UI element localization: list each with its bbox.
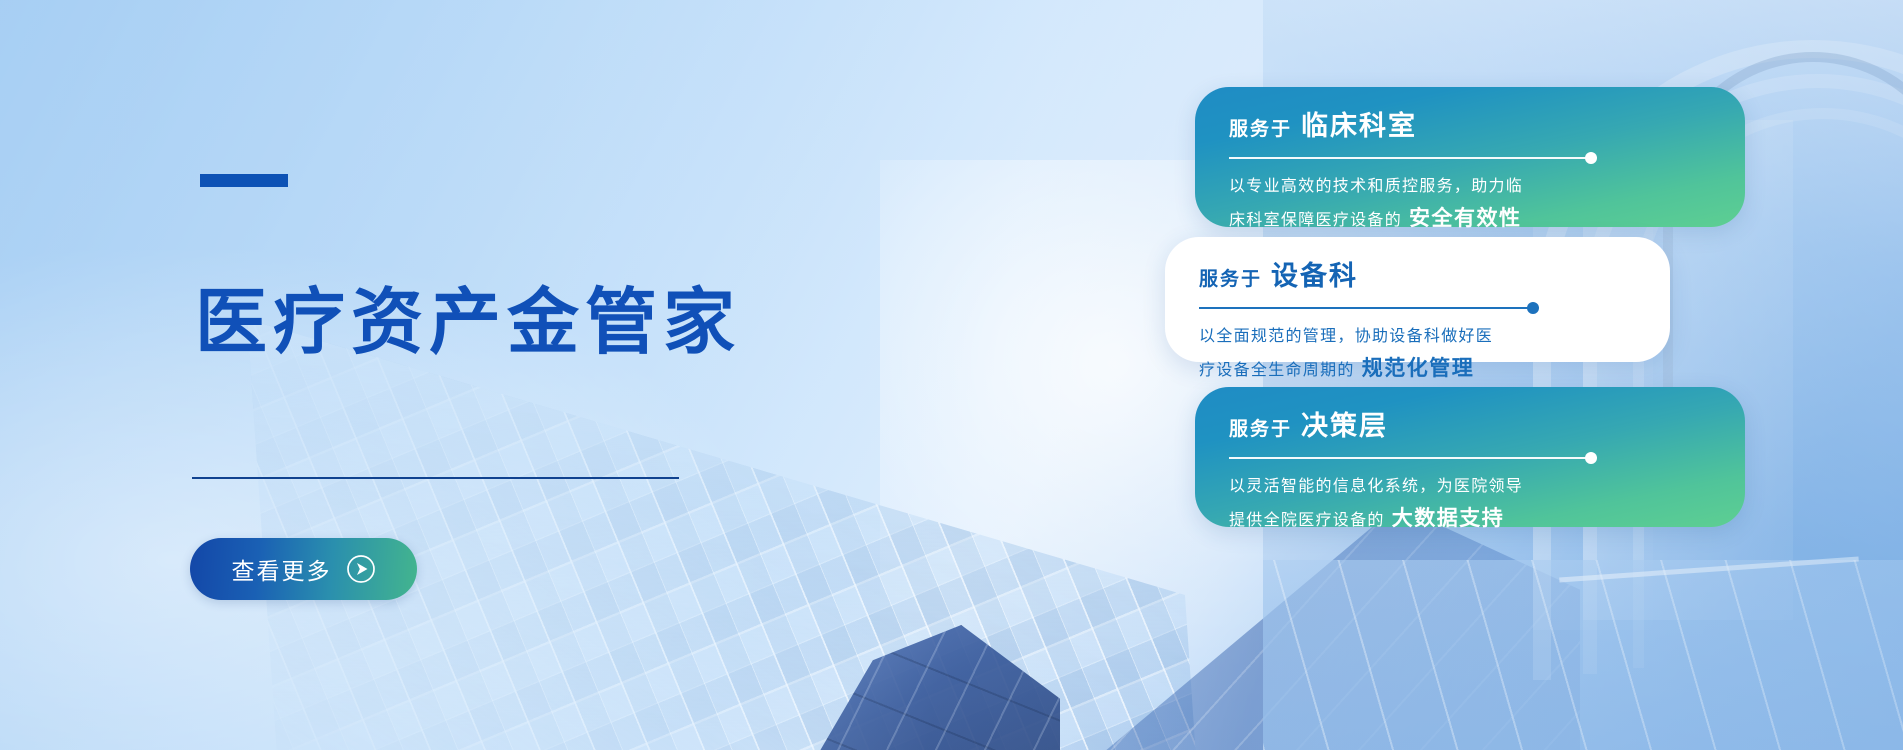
card-header-target: 临床科室 — [1301, 113, 1417, 140]
card-body-line-2: 提供全院医疗设备的大数据支持 — [1229, 501, 1711, 538]
card-header: 服务于 决策层 — [1229, 413, 1711, 440]
card-body-line-2: 疗设备全生命周期的规范化管理 — [1199, 351, 1636, 388]
progress-dot — [1585, 152, 1597, 164]
card-header: 服务于 设备科 — [1199, 263, 1636, 290]
card-header-target: 决策层 — [1301, 413, 1388, 440]
card-rule-row — [1199, 302, 1636, 314]
service-card-equipment-department[interactable]: 服务于 设备科 以全面规范的管理，协助设备科做好医 疗设备全生命周期的规范化管理 — [1165, 237, 1670, 362]
card-rule-row — [1229, 152, 1711, 164]
progress-dot — [1585, 452, 1597, 464]
service-card-clinical-department[interactable]: 服务于 临床科室 以专业高效的技术和质控服务，助力临 床科室保障医疗设备的安全有… — [1195, 87, 1745, 227]
card-body-line-1: 以全面规范的管理，协助设备科做好医 — [1199, 323, 1636, 351]
card-body-line-1: 以专业高效的技术和质控服务，助力临 — [1229, 173, 1711, 201]
card-rule-row — [1229, 452, 1711, 464]
card-header-prefix: 服务于 — [1229, 420, 1292, 439]
service-cards: 服务于 临床科室 以专业高效的技术和质控服务，助力临 床科室保障医疗设备的安全有… — [0, 0, 1903, 750]
card-header-target: 设备科 — [1271, 263, 1358, 290]
card-rule-line — [1199, 307, 1531, 309]
card-body-line-2-text: 床科室保障医疗设备的 — [1229, 212, 1402, 229]
progress-dot — [1527, 302, 1539, 314]
card-body-line-2: 床科室保障医疗设备的安全有效性 — [1229, 201, 1711, 238]
card-header-prefix: 服务于 — [1199, 270, 1262, 289]
service-card-decision-layer[interactable]: 服务于 决策层 以灵活智能的信息化系统，为医院领导 提供全院医疗设备的大数据支持 — [1195, 387, 1745, 527]
card-rule-line — [1229, 457, 1589, 459]
card-body-line-1: 以灵活智能的信息化系统，为医院领导 — [1229, 473, 1711, 501]
card-body-emphasis: 规范化管理 — [1362, 357, 1475, 380]
card-body: 以全面规范的管理，协助设备科做好医 疗设备全生命周期的规范化管理 — [1199, 323, 1636, 388]
card-body-line-2-text: 提供全院医疗设备的 — [1229, 512, 1385, 529]
card-body-emphasis: 安全有效性 — [1409, 207, 1522, 230]
card-body: 以专业高效的技术和质控服务，助力临 床科室保障医疗设备的安全有效性 — [1229, 173, 1711, 238]
card-body-line-2-text: 疗设备全生命周期的 — [1199, 362, 1355, 379]
card-header-prefix: 服务于 — [1229, 120, 1292, 139]
card-rule-line — [1229, 157, 1589, 159]
card-header: 服务于 临床科室 — [1229, 113, 1711, 140]
card-body: 以灵活智能的信息化系统，为医院领导 提供全院医疗设备的大数据支持 — [1229, 473, 1711, 538]
hero-banner: 医疗资产金管家 查看更多 服务于 临床科室 以专业 — [0, 0, 1903, 750]
card-body-emphasis: 大数据支持 — [1392, 507, 1505, 530]
